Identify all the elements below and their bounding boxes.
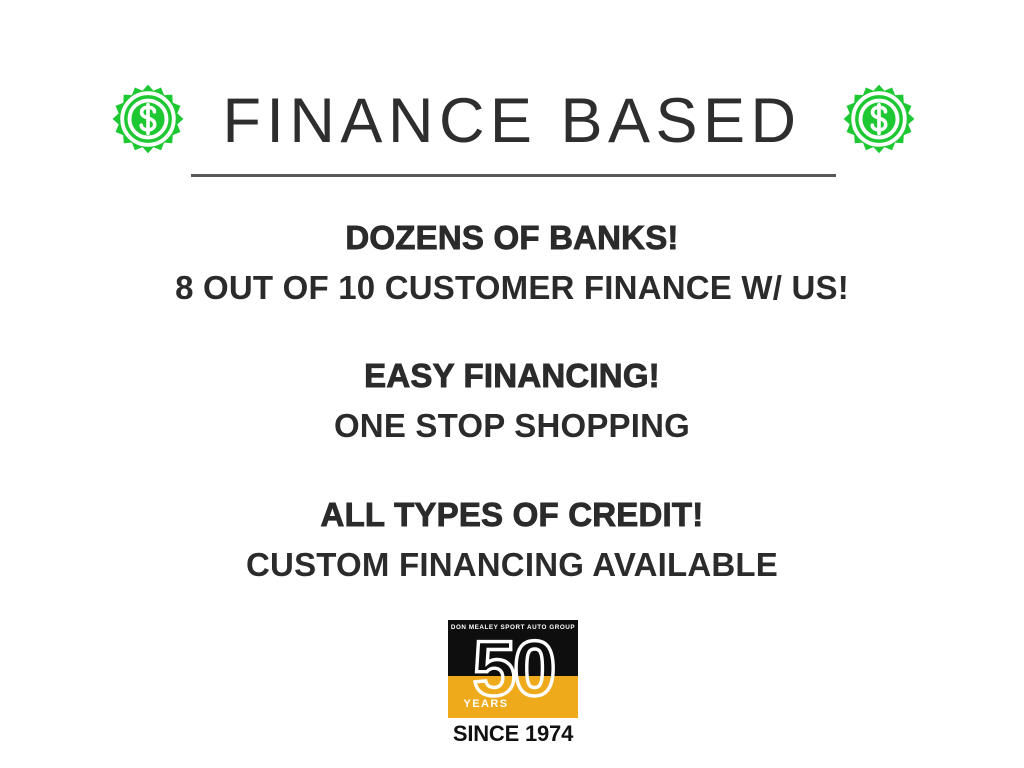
benefit-headline: ALL TYPES OF CREDIT! bbox=[0, 490, 1024, 540]
benefit-subline: 8 OUT OF 10 CUSTOMER FINANCE W/ US! bbox=[0, 263, 1024, 313]
benefit-block-banks: DOZENS OF BANKS! 8 OUT OF 10 CUSTOMER FI… bbox=[0, 213, 1024, 313]
benefit-block-financing: EASY FINANCING! ONE STOP SHOPPING bbox=[0, 351, 1024, 451]
benefit-subline: ONE STOP SHOPPING bbox=[0, 401, 1024, 451]
dealer-logo: DON MEALEY SPORT AUTO GROUP 50 YEARS SIN… bbox=[448, 620, 578, 747]
logo-since-label: SINCE 1974 bbox=[448, 721, 578, 747]
anniversary-badge: DON MEALEY SPORT AUTO GROUP 50 YEARS bbox=[448, 620, 578, 718]
money-gear-icon-right bbox=[836, 76, 922, 162]
benefit-headline: EASY FINANCING! bbox=[0, 351, 1024, 401]
benefit-subline: CUSTOM FINANCING AVAILABLE bbox=[0, 540, 1024, 590]
badge-anniversary-number: 50 bbox=[448, 629, 578, 707]
finance-based-slide: FINANCE BASED DOZENS OF BANKS! 8 OUT OF … bbox=[0, 0, 1024, 768]
benefits-list: DOZENS OF BANKS! 8 OUT OF 10 CUSTOMER FI… bbox=[0, 213, 1024, 590]
badge-years-label: YEARS bbox=[454, 698, 518, 710]
slide-header: FINANCE BASED bbox=[0, 76, 1024, 172]
title-divider bbox=[191, 174, 836, 177]
benefit-block-credit: ALL TYPES OF CREDIT! CUSTOM FINANCING AV… bbox=[0, 490, 1024, 590]
badge-brand-line: DON MEALEY SPORT AUTO GROUP bbox=[448, 624, 578, 631]
benefit-headline: DOZENS OF BANKS! bbox=[0, 213, 1024, 263]
